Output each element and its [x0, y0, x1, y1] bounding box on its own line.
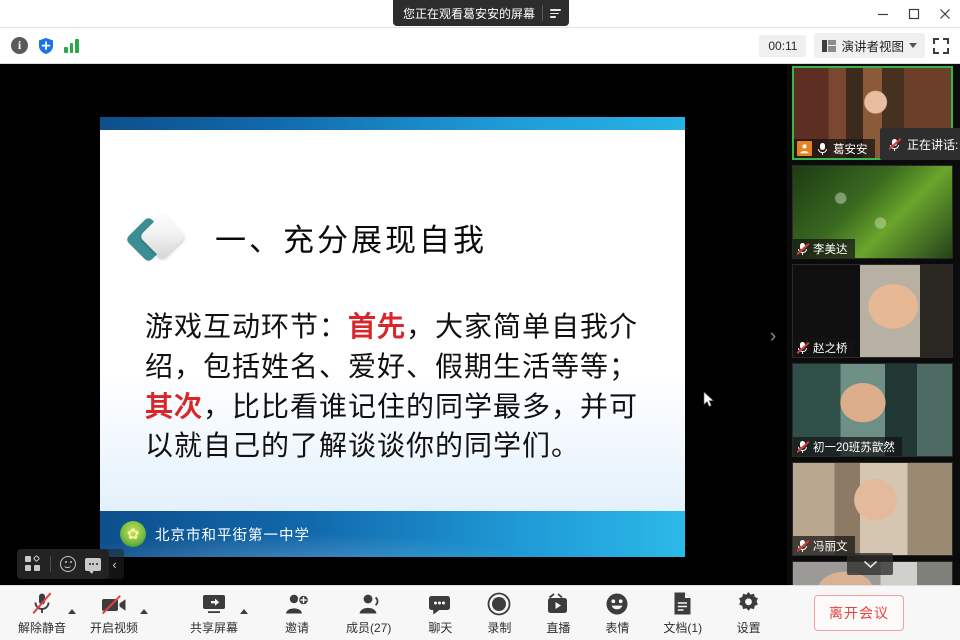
meeting-bottom-toolbar: 解除静音 开启视频 共享屏幕 — [0, 585, 960, 640]
smiley-icon[interactable] — [60, 556, 76, 572]
participant-tile[interactable]: 赵之桥 — [792, 264, 953, 358]
info-icon[interactable]: i — [11, 37, 28, 54]
speaking-tooltip-label: 正在讲话: 葛安 — [907, 136, 960, 153]
notice-divider — [542, 5, 543, 21]
start-video-label: 开启视频 — [90, 619, 138, 636]
chevron-down-icon — [909, 43, 917, 48]
signal-bars-icon[interactable] — [64, 38, 81, 53]
live-stream-button[interactable]: 直播 — [545, 586, 571, 640]
participants-button[interactable]: 成员(27) — [346, 586, 391, 640]
body-segment: 游戏互动环节： — [145, 310, 348, 343]
mic-muted-icon — [796, 439, 809, 454]
view-mode-selector[interactable]: 演讲者视图 — [814, 33, 925, 58]
chat-label: 聊天 — [428, 619, 452, 636]
hamburger-icon[interactable] — [550, 7, 563, 19]
mouse-cursor-icon — [703, 391, 715, 408]
participant-name-chip: 李美达 — [793, 239, 855, 258]
maximize-button[interactable] — [898, 0, 929, 28]
float-divider — [50, 556, 51, 572]
slide-body-text: 游戏互动环节：首先，大家简单自我介绍，包括姓名、爱好、假期生活等等；其次，比比看… — [145, 307, 650, 466]
view-mode-label: 演讲者视图 — [841, 36, 904, 55]
participant-tile[interactable]: 冯丽文 — [792, 462, 953, 556]
next-slide-chevron-icon[interactable]: › — [767, 326, 779, 348]
zoom-meeting-window: 您正在观看葛安安的屏幕 i — [0, 0, 960, 640]
slide-title: 一、充分展现自我 — [215, 215, 487, 260]
school-name-label: 北京市和平街第一中学 — [155, 524, 310, 545]
record-icon — [487, 591, 511, 616]
body-highlight-second: 其次 — [145, 390, 203, 423]
minimize-button[interactable] — [867, 0, 898, 28]
document-icon — [672, 591, 693, 616]
unmute-button[interactable]: 解除静音 — [18, 586, 66, 640]
top-toolbar-left-group: i — [0, 37, 81, 55]
share-screen-label: 共享屏幕 — [190, 619, 238, 636]
start-video-button[interactable]: 开启视频 — [90, 586, 138, 640]
reactions-icon — [605, 591, 629, 616]
participants-icon — [356, 591, 382, 616]
speaking-tooltip: 正在讲话: 葛安 — [880, 128, 960, 160]
participant-tile[interactable]: 李美达 — [792, 165, 953, 259]
settings-button[interactable]: 设置 — [736, 586, 761, 640]
sharing-notice-label: 您正在观看葛安安的屏幕 — [403, 5, 535, 22]
fullscreen-icon[interactable] — [933, 38, 949, 54]
participant-name-chip: 葛安安 — [794, 139, 875, 158]
documents-label: 文档(1) — [663, 619, 702, 636]
chat-icon — [427, 591, 453, 616]
participant-name: 赵之桥 — [813, 340, 848, 356]
settings-label: 设置 — [737, 619, 761, 636]
screen-sharing-notice[interactable]: 您正在观看葛安安的屏幕 — [393, 0, 569, 26]
share-floating-toolbar[interactable] — [17, 549, 109, 579]
invite-button[interactable]: 邀请 — [284, 586, 310, 640]
shared-screen-stage[interactable]: 一、充分展现自我 游戏互动环节：首先，大家简单自我介绍，包括姓名、爱好、假期生活… — [0, 64, 787, 585]
mic-muted-icon — [888, 137, 901, 152]
window-title-bar: 您正在观看葛安安的屏幕 — [0, 0, 960, 28]
share-screen-icon — [201, 591, 227, 616]
chat-button[interactable]: 聊天 — [427, 586, 453, 640]
share-screen-button[interactable]: 共享屏幕 — [190, 586, 238, 640]
settings-gear-icon — [736, 591, 761, 616]
share-options-caret-icon[interactable] — [240, 609, 248, 614]
live-stream-icon — [545, 591, 571, 616]
participants-label: 成员(27) — [346, 619, 391, 636]
participant-name: 初一20班苏歆然 — [813, 439, 895, 455]
reactions-label: 表情 — [605, 619, 629, 636]
body-highlight-first: 首先 — [348, 310, 406, 343]
slide-footer: ✿ 北京市和平街第一中学 — [100, 511, 685, 557]
audio-options-caret-icon[interactable] — [68, 609, 76, 614]
shield-icon[interactable] — [37, 37, 55, 55]
video-options-caret-icon[interactable] — [140, 609, 148, 614]
mic-icon — [816, 141, 829, 156]
top-toolbar-right-group: 00:11 演讲者视图 — [759, 33, 960, 58]
leave-meeting-button[interactable]: 离开会议 — [814, 595, 904, 631]
participant-name: 冯丽文 — [813, 538, 848, 554]
body-segment: ，比比看谁记住的同学最多，并可以就自己的了解谈谈你的同学们。 — [145, 390, 638, 463]
collapse-toolbar-button[interactable]: ‹ — [105, 549, 124, 579]
mic-muted-icon — [30, 591, 54, 616]
slide-header-band — [100, 117, 685, 130]
mic-muted-icon — [796, 538, 809, 553]
mic-muted-icon — [796, 340, 809, 355]
host-badge-icon — [797, 141, 812, 156]
participant-name: 李美达 — [813, 241, 848, 257]
live-stream-label: 直播 — [546, 619, 570, 636]
meeting-top-toolbar: i 00:11 演讲者视图 — [0, 28, 960, 64]
unmute-label: 解除静音 — [18, 619, 66, 636]
participant-name-chip: 赵之桥 — [793, 338, 855, 357]
record-button[interactable]: 录制 — [487, 586, 511, 640]
participant-name: 葛安安 — [833, 141, 868, 157]
speaker-view-icon — [822, 40, 836, 52]
meeting-timer: 00:11 — [759, 35, 806, 57]
participant-name-chip: 冯丽文 — [793, 536, 855, 555]
rail-scroll-down-button[interactable] — [847, 553, 893, 575]
close-button[interactable] — [929, 0, 960, 28]
record-label: 录制 — [487, 619, 511, 636]
video-off-icon — [100, 591, 128, 616]
participant-tile[interactable]: 初一20班苏歆然 — [792, 363, 953, 457]
participant-name-chip: 初一20班苏歆然 — [793, 437, 902, 456]
reactions-button[interactable]: 表情 — [605, 586, 629, 640]
presentation-slide: 一、充分展现自我 游戏互动环节：首先，大家简单自我介绍，包括姓名、爱好、假期生活… — [100, 117, 685, 557]
invite-person-icon — [284, 591, 310, 616]
window-controls — [867, 0, 960, 28]
mic-muted-icon — [796, 241, 809, 256]
chat-bubble-icon[interactable] — [85, 558, 101, 571]
school-logo-icon: ✿ — [120, 521, 146, 547]
documents-button[interactable]: 文档(1) — [663, 586, 702, 640]
invite-label: 邀请 — [285, 619, 309, 636]
apps-grid-icon[interactable] — [25, 556, 41, 572]
slide-diamond-bullet-icon — [130, 217, 186, 265]
